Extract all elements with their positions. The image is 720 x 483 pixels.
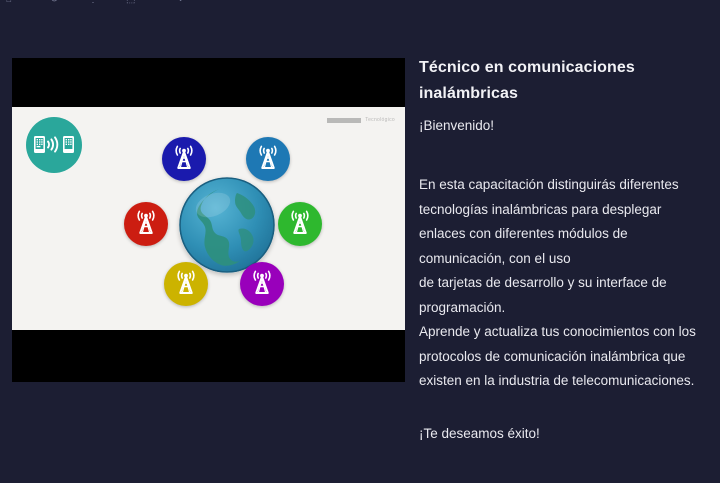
- globe-icon: [179, 177, 275, 273]
- radio-tower-icon: [254, 145, 282, 173]
- wireless-devices-badge: [26, 117, 82, 173]
- wireless-devices-icon: [34, 134, 74, 156]
- radio-tower-icon: [248, 270, 276, 298]
- course-info-panel: Técnico en comunicaciones inalámbricas ¡…: [419, 55, 711, 443]
- truncated-toolbar: ⌂ ↻ ⋮ ⬚ ✓: [0, 0, 720, 12]
- welcome-text: ¡Bienvenido!: [419, 116, 711, 135]
- radio-tower-icon: [170, 145, 198, 173]
- globe-graphic: [179, 177, 275, 273]
- node-right: [278, 202, 322, 246]
- closing-text: ¡Te deseamos éxito!: [419, 424, 711, 443]
- toolbar-icon-2[interactable]: ↻: [50, 0, 58, 6]
- brand-wordmark: Tecnológico: [327, 117, 395, 123]
- node-top-left: [162, 137, 206, 181]
- radio-tower-icon: [172, 270, 200, 298]
- radio-tower-icon: [286, 210, 314, 238]
- toolbar-icon-3[interactable]: ⋮: [88, 0, 98, 6]
- toolbar-icon-1[interactable]: ⌂: [6, 0, 12, 6]
- node-bottom-left: [164, 262, 208, 306]
- node-left: [124, 202, 168, 246]
- page-root: ⌂ ↻ ⋮ ⬚ ✓: [0, 0, 720, 483]
- course-description: En esta capacitación distinguirás difere…: [419, 173, 711, 394]
- toolbar-icon-4[interactable]: ⬚: [126, 0, 135, 6]
- node-bottom-right: [240, 262, 284, 306]
- radio-tower-icon: [132, 210, 160, 238]
- brand-label: Tecnológico: [365, 117, 395, 123]
- video-player[interactable]: Tecnológico: [12, 58, 405, 382]
- presentation-slide: Tecnológico: [12, 107, 405, 330]
- page-title: Técnico en comunicaciones inalámbricas: [419, 55, 711, 107]
- toolbar-icon-5[interactable]: ✓: [178, 0, 186, 6]
- node-top-right: [246, 137, 290, 181]
- brand-bar-icon: [327, 118, 361, 123]
